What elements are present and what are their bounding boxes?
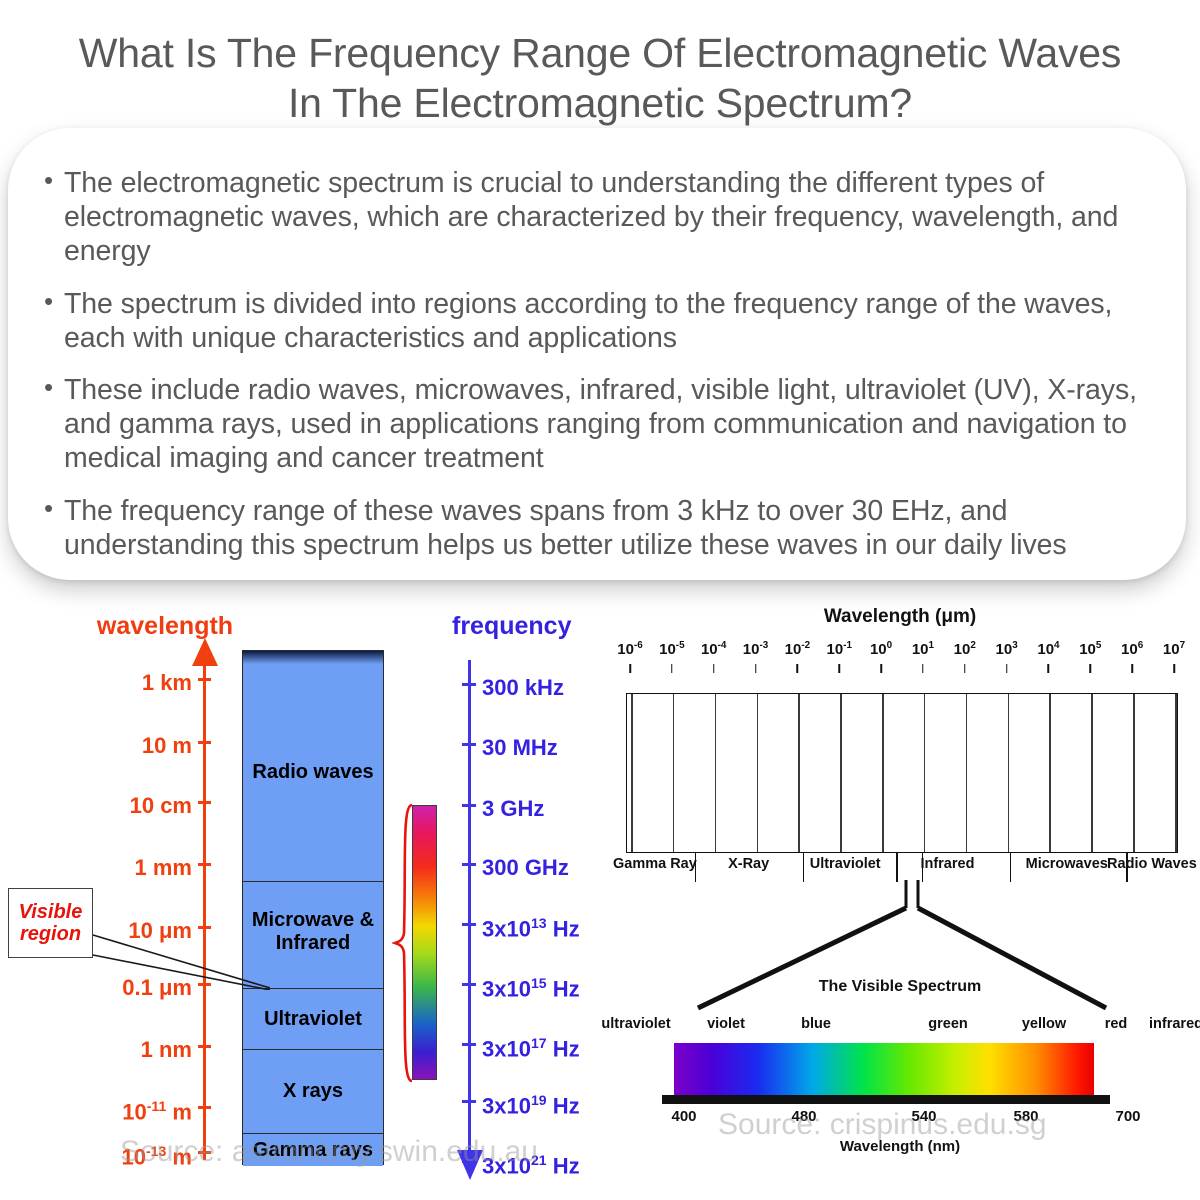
bullet-dot-icon: • (44, 372, 53, 403)
wavelength-um-tick-mark (1090, 664, 1092, 673)
spectrum-gridline (1008, 694, 1010, 852)
region-separator (1010, 852, 1012, 882)
spectrum-gridline (1091, 694, 1093, 852)
visible-color-label: violet (707, 1016, 745, 1032)
wavelength-um-tick-label: 10-1 (826, 640, 851, 658)
wavelength-tick-label: 1 mm (42, 855, 192, 881)
frequency-tick-mark (462, 863, 476, 866)
frequency-tick-mark (462, 1100, 476, 1103)
wavelength-tick-mark (198, 863, 211, 866)
visible-color-label: ultraviolet (601, 1016, 670, 1032)
spectrum-grid-box (626, 693, 1178, 853)
wavelength-tick-label: 1 nm (42, 1037, 192, 1063)
wavelength-um-axis-title: Wavelength (μm) (600, 606, 1200, 628)
spectrum-region-label: Ultraviolet (810, 856, 881, 872)
spectrum-region-label: X-Ray (728, 856, 769, 872)
wavelength-tick-label: 10-11 m (42, 1098, 192, 1125)
wavelength-tick-mark (198, 1106, 211, 1109)
spectrum-gridline (798, 694, 800, 852)
wavelength-um-tick-label: 101 (912, 640, 934, 658)
region-separator (1126, 852, 1128, 882)
spectrum-band: X rays (243, 1049, 383, 1133)
region-separator (896, 852, 898, 882)
visible-region-label-line2: region (20, 923, 81, 945)
wavelength-um-tick-label: 106 (1121, 640, 1143, 658)
visible-spectrum-axis-rule (662, 1095, 1110, 1104)
bullet-dot-icon: • (44, 165, 53, 196)
spectrum-gridline (1133, 694, 1135, 852)
visible-spectrum-title: The Visible Spectrum (600, 978, 1200, 996)
spectrum-region-label: Radio Waves (1107, 856, 1197, 872)
bullet-dot-icon: • (44, 286, 53, 317)
frequency-arrow-icon (457, 1150, 483, 1180)
wavelength-tick-label: 1 km (42, 670, 192, 696)
frequency-axis-line (468, 660, 471, 1165)
nm-tick-labels: 400480540580700 (600, 1108, 1200, 1132)
wavelength-um-tick-mark (922, 664, 924, 673)
wavelength-um-tick-mark (1006, 664, 1008, 673)
page-title: What Is The Frequency Range Of Electroma… (30, 28, 1170, 128)
frequency-tick-mark (462, 1043, 476, 1046)
em-spectrum-linear-diagram: Wavelength (μm) 10-610-510-410-310-210-1… (600, 598, 1200, 1200)
spectrum-region-label: Infrared (920, 856, 974, 872)
spectrum-gridline (840, 694, 842, 852)
frequency-tick-mark (462, 804, 476, 807)
wavelength-tick-label: 10 m (42, 733, 192, 759)
region-separator (922, 852, 924, 882)
frequency-tick-mark (462, 983, 476, 986)
visible-color-label: red (1105, 1016, 1128, 1032)
list-item-text: The spectrum is divided into regions acc… (64, 288, 1112, 354)
wavelength-um-tick-mark (797, 664, 799, 673)
wavelength-um-tick-label: 10-4 (701, 640, 726, 658)
wavelength-um-tick-mark (1131, 664, 1133, 673)
spectrum-band: Gamma rays (243, 1133, 383, 1166)
spectrum-gridline (673, 694, 675, 852)
wavelength-um-tick-label: 100 (870, 640, 892, 658)
nm-tick-label: 540 (911, 1108, 936, 1125)
spectrum-band: Radio waves (243, 664, 383, 881)
wavelength-tick-label: 10-13 m (42, 1143, 192, 1170)
wavelength-um-tick-label: 105 (1079, 640, 1101, 658)
spectrum-gridline (715, 694, 717, 852)
region-separator (803, 852, 805, 882)
wavelength-um-tick-label: 10-2 (785, 640, 810, 658)
spectrum-gridline (966, 694, 968, 852)
visible-region-callout: Visible region (8, 888, 93, 958)
spectrum-gridline (631, 694, 633, 852)
wavelength-um-tick-mark (629, 664, 631, 673)
wavelength-um-tick-label: 10-6 (617, 640, 642, 658)
visible-region-brace-icon (392, 803, 414, 1083)
bullet-dot-icon: • (44, 493, 53, 524)
region-separator (695, 852, 697, 882)
wavelength-um-tick-label: 10-3 (743, 640, 768, 658)
wavelength-tick-mark (198, 1151, 211, 1154)
wavelength-tick-mark (198, 741, 211, 744)
spectrum-gridline (1049, 694, 1051, 852)
wavelength-um-tick-label: 104 (1037, 640, 1059, 658)
spectrum-gridline (1175, 694, 1177, 852)
list-item-text: The frequency range of these waves spans… (64, 495, 1067, 561)
wavelength-um-tick-label: 107 (1163, 640, 1185, 658)
spectrum-gridline (924, 694, 926, 852)
wavelength-um-tick-mark (671, 664, 673, 673)
nm-tick-label: 580 (1013, 1108, 1038, 1125)
slide-page: What Is The Frequency Range Of Electroma… (0, 0, 1200, 1200)
frequency-tick-mark (462, 743, 476, 746)
visible-color-labels: ultravioletvioletbluegreenyellowredinfra… (600, 1016, 1200, 1038)
wavelength-um-tick-label: 103 (996, 640, 1018, 658)
visible-color-label: green (928, 1016, 968, 1032)
visible-color-label: blue (801, 1016, 831, 1032)
spectrum-region-label: Gamma Ray (613, 856, 697, 872)
list-item: • The electromagnetic spectrum is crucia… (42, 166, 1152, 269)
wavelength-um-tick-mark (1048, 664, 1050, 673)
bullet-list: • The electromagnetic spectrum is crucia… (42, 166, 1152, 580)
spectrum-region-label: Microwaves (1026, 856, 1108, 872)
wavelength-tick-mark (198, 1045, 211, 1048)
visible-spectrum-colorbar (412, 805, 437, 1080)
list-item: • The frequency range of these waves spa… (42, 494, 1152, 562)
wavelength-tick-mark (198, 801, 211, 804)
wavelength-um-tick-labels: 10-610-510-410-310-210-11001011021031041… (618, 640, 1186, 680)
spectrum-gridline (757, 694, 759, 852)
nm-tick-label: 480 (791, 1108, 816, 1125)
wavelength-um-tick-mark (838, 664, 840, 673)
list-item-text: These include radio waves, microwaves, i… (64, 374, 1137, 474)
column-top-gradient (243, 651, 383, 664)
wavelength-um-tick-mark (755, 664, 757, 673)
list-item: • These include radio waves, microwaves,… (42, 373, 1152, 476)
spectrum-band: Ultraviolet (243, 988, 383, 1049)
frequency-tick-mark (462, 1160, 476, 1163)
frequency-axis-title: frequency (452, 612, 622, 641)
nm-tick-label: 400 (671, 1108, 696, 1125)
wavelength-nm-axis-title: Wavelength (nm) (600, 1138, 1200, 1155)
wavelength-um-tick-label: 10-5 (659, 640, 684, 658)
wavelength-um-tick-mark (1173, 664, 1175, 673)
list-item-text: The electromagnetic spectrum is crucial … (64, 167, 1118, 267)
spectrum-gridline (882, 694, 884, 852)
frequency-tick-mark (462, 683, 476, 686)
visible-spectrum-gradient-bar (674, 1043, 1094, 1095)
visible-region-label-line1: Visible (19, 901, 83, 923)
nm-tick-label: 700 (1115, 1108, 1140, 1125)
visible-color-label: infrared (1149, 1016, 1200, 1032)
frequency-tick-mark (462, 923, 476, 926)
wavelength-um-tick-mark (880, 664, 882, 673)
wavelength-tick-mark (198, 678, 211, 681)
list-item: • The spectrum is divided into regions a… (42, 287, 1152, 355)
wavelength-tick-label: 10 cm (42, 793, 192, 819)
wavelength-um-tick-label: 102 (954, 640, 976, 658)
wavelength-um-tick-mark (713, 664, 715, 673)
wavelength-axis-title: wavelength (80, 612, 250, 641)
wavelength-um-tick-mark (964, 664, 966, 673)
visible-color-label: yellow (1022, 1016, 1066, 1032)
